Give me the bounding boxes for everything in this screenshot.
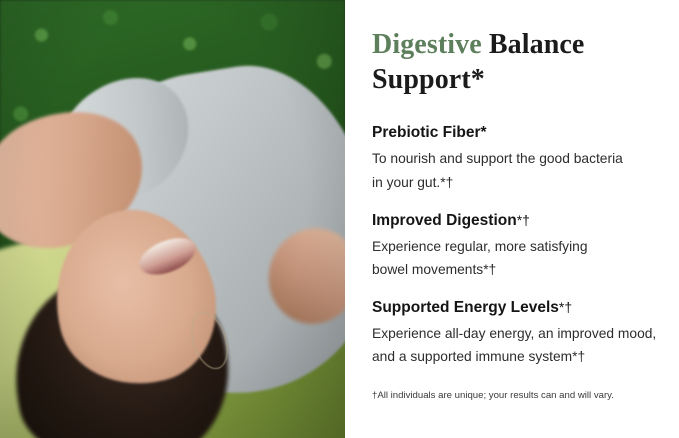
headline-accent-word: Digestive bbox=[372, 29, 482, 60]
feature-body-line-2: in your gut.*† bbox=[372, 175, 453, 190]
feature-title-text: Improved Digestion bbox=[372, 212, 517, 229]
feature-supported-energy-levels: Supported Energy Levels*† Experience all… bbox=[372, 298, 659, 368]
feature-prebiotic-fiber: Prebiotic Fiber* To nourish and support … bbox=[372, 123, 659, 193]
feature-body-line-1: Experience regular, more satisfying bbox=[372, 239, 588, 254]
feature-body-line-1: To nourish and support the good bacteria bbox=[372, 151, 623, 166]
feature-title-text: Prebiotic Fiber* bbox=[372, 124, 487, 141]
lifestyle-photo bbox=[0, 0, 345, 438]
copy-panel: Digestive Balance Support* Prebiotic Fib… bbox=[345, 0, 679, 438]
feature-body-line-1: Experience all-day energy, an improved m… bbox=[372, 326, 656, 341]
disclaimer-text: †All individuals are unique; your result… bbox=[372, 389, 659, 402]
feature-body-line-2: and a supported immune system*† bbox=[372, 349, 585, 364]
product-benefits-banner: Digestive Balance Support* Prebiotic Fib… bbox=[0, 0, 679, 438]
page-title: Digestive Balance Support* bbox=[372, 28, 659, 97]
feature-title: Supported Energy Levels*† bbox=[372, 298, 659, 319]
feature-title-marks: *† bbox=[517, 212, 530, 228]
photo-vignette bbox=[0, 0, 345, 438]
feature-body-line-2: bowel movements*† bbox=[372, 262, 496, 277]
feature-title-text: Supported Energy Levels bbox=[372, 299, 559, 316]
feature-title: Improved Digestion*† bbox=[372, 211, 659, 232]
feature-body: Experience regular, more satisfyingbowel… bbox=[372, 235, 659, 281]
feature-body: To nourish and support the good bacteria… bbox=[372, 147, 659, 193]
feature-improved-digestion: Improved Digestion*† Experience regular,… bbox=[372, 211, 659, 281]
feature-title: Prebiotic Fiber* bbox=[372, 123, 659, 144]
feature-body: Experience all-day energy, an improved m… bbox=[372, 322, 659, 368]
feature-title-marks: *† bbox=[559, 299, 572, 315]
